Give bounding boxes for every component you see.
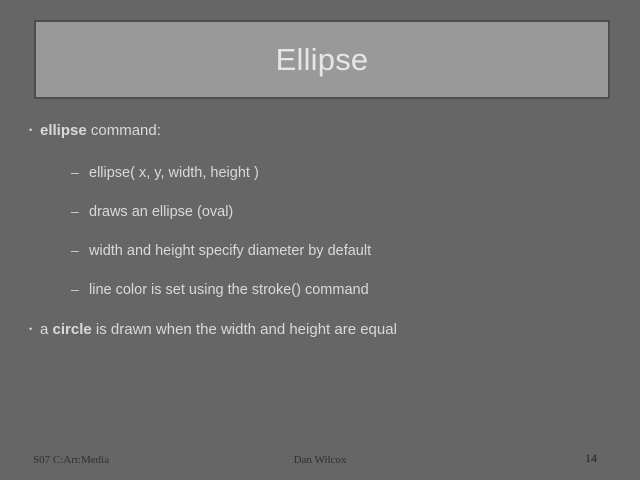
dash-marker-icon: – [71, 202, 89, 220]
sub-bullet-item-diameter: –width and height specify diameter by de… [71, 241, 371, 260]
bullet-text-prefix: a [40, 321, 53, 338]
sub-bullet-text: ellipse( x, y, width, height ) [89, 165, 259, 181]
sub-bullet-text: width and height specify diameter by def… [89, 243, 371, 259]
bullet-bold-text: circle [53, 321, 92, 338]
sub-bullet-item-draws-oval: –draws an ellipse (oval) [71, 202, 233, 221]
bullet-bold-text: ellipse [40, 122, 87, 139]
dash-marker-icon: – [71, 241, 89, 259]
footer-author-label: Dan Wilcox [0, 453, 640, 467]
bullet-text: command: [87, 122, 161, 139]
slide-canvas: Ellipse •ellipse command: –ellipse( x, y… [0, 0, 640, 480]
bullet-text: is drawn when the width and height are e… [92, 321, 397, 338]
sub-bullet-text: line color is set using the stroke() com… [89, 282, 369, 298]
slide-body: •ellipse command: –ellipse( x, y, width,… [0, 0, 640, 480]
bullet-marker-icon: • [29, 121, 40, 139]
bullet-item-circle: •a circle is drawn when the width and he… [29, 320, 397, 339]
footer-page-number: 14 [585, 451, 615, 465]
sub-bullet-text: draws an ellipse (oval) [89, 204, 233, 220]
sub-bullet-item-stroke: –line color is set using the stroke() co… [71, 280, 369, 299]
dash-marker-icon: – [71, 163, 89, 181]
bullet-marker-icon: • [29, 320, 40, 338]
bullet-item-ellipse-command: •ellipse command: [29, 121, 161, 140]
sub-bullet-item-signature: –ellipse( x, y, width, height ) [71, 163, 259, 182]
dash-marker-icon: – [71, 280, 89, 298]
